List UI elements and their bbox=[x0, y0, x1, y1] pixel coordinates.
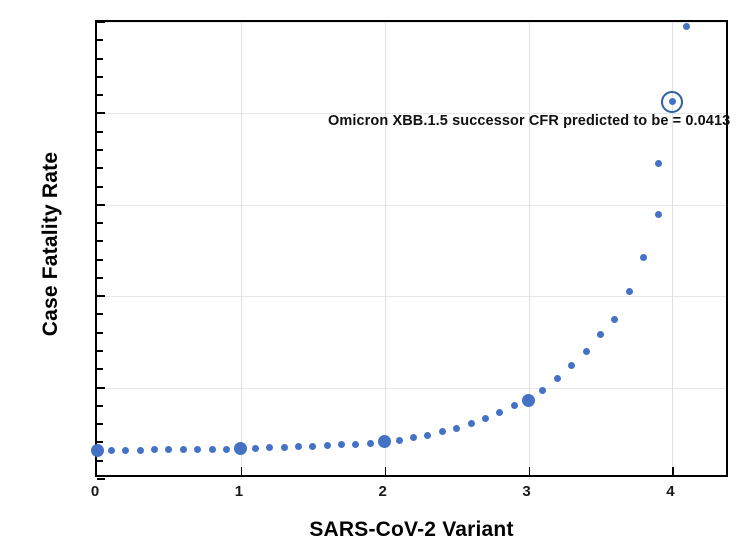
chart-root: Case Fatality Rate 0.0000.0100.0200.0300… bbox=[0, 0, 750, 555]
y-tick-minor bbox=[97, 259, 103, 261]
y-tick-minor bbox=[97, 240, 103, 242]
data-point bbox=[522, 394, 535, 407]
gridline-horizontal-0.030 bbox=[97, 205, 726, 206]
gridline-vertical-4 bbox=[672, 22, 673, 475]
data-point bbox=[338, 441, 345, 448]
data-point bbox=[324, 442, 331, 449]
data-point bbox=[378, 435, 391, 448]
y-tick-minor bbox=[97, 460, 103, 462]
data-point bbox=[108, 447, 115, 454]
data-point bbox=[151, 446, 158, 453]
gridline-vertical-1 bbox=[241, 22, 242, 475]
y-tick-minor bbox=[97, 350, 103, 352]
data-point bbox=[583, 348, 590, 355]
gridline-horizontal-0.020 bbox=[97, 296, 726, 297]
data-point bbox=[252, 445, 259, 452]
data-point bbox=[281, 444, 288, 451]
data-point bbox=[209, 446, 216, 453]
data-point bbox=[482, 415, 489, 422]
y-tick-major-0.000 bbox=[97, 478, 105, 480]
predicted-cfr-marker-dot bbox=[669, 98, 676, 105]
data-point bbox=[91, 444, 104, 457]
y-tick-minor bbox=[97, 277, 103, 279]
data-point bbox=[266, 444, 273, 451]
data-point bbox=[295, 443, 302, 450]
y-tick-minor bbox=[97, 332, 103, 334]
y-tick-minor bbox=[97, 313, 103, 315]
data-point bbox=[234, 442, 247, 455]
x-tick-label-4: 4 bbox=[650, 483, 690, 500]
data-point bbox=[655, 211, 662, 218]
y-tick-minor bbox=[97, 368, 103, 370]
y-tick-minor bbox=[97, 405, 103, 407]
y-tick-minor bbox=[97, 186, 103, 188]
y-tick-minor bbox=[97, 167, 103, 169]
y-tick-minor bbox=[97, 222, 103, 224]
data-point bbox=[597, 331, 604, 338]
gridline-horizontal-0.050 bbox=[97, 22, 726, 23]
data-point bbox=[165, 446, 172, 453]
y-tick-major-0.010 bbox=[97, 387, 105, 389]
data-point bbox=[396, 437, 403, 444]
y-tick-minor bbox=[97, 131, 103, 133]
predicted-cfr-marker bbox=[661, 91, 683, 113]
data-point bbox=[309, 443, 316, 450]
y-tick-minor bbox=[97, 58, 103, 60]
x-tick-label-3: 3 bbox=[507, 483, 547, 500]
y-tick-major-0.040 bbox=[97, 112, 105, 114]
y-tick-minor bbox=[97, 441, 103, 443]
data-point bbox=[439, 428, 446, 435]
y-tick-major-0.020 bbox=[97, 295, 105, 297]
x-tick-label-1: 1 bbox=[219, 483, 259, 500]
data-point bbox=[568, 362, 575, 369]
prediction-annotation-label: Omicron XBB.1.5 successor CFR predicted … bbox=[328, 113, 730, 129]
plot-area: Omicron XBB.1.5 successor CFR predicted … bbox=[95, 20, 728, 477]
y-tick-minor bbox=[97, 149, 103, 151]
data-point bbox=[194, 446, 201, 453]
y-tick-major-0.050 bbox=[97, 21, 105, 23]
data-point bbox=[539, 387, 546, 394]
data-point bbox=[554, 375, 561, 382]
y-tick-minor bbox=[97, 423, 103, 425]
data-point bbox=[122, 447, 129, 454]
gridline-vertical-2 bbox=[385, 22, 386, 475]
x-tick-label-0: 0 bbox=[75, 483, 115, 500]
x-tick-major-1 bbox=[241, 467, 243, 475]
data-point bbox=[367, 440, 374, 447]
x-tick-label-2: 2 bbox=[363, 483, 403, 500]
data-point bbox=[611, 316, 618, 323]
data-point bbox=[626, 288, 633, 295]
x-tick-major-4 bbox=[672, 467, 674, 475]
data-point bbox=[453, 425, 460, 432]
y-tick-minor bbox=[97, 39, 103, 41]
gridline-vertical-3 bbox=[529, 22, 530, 475]
data-point bbox=[410, 434, 417, 441]
data-point bbox=[511, 402, 518, 409]
data-point bbox=[352, 441, 359, 448]
data-point bbox=[655, 160, 662, 167]
data-point bbox=[683, 23, 690, 30]
y-tick-minor bbox=[97, 94, 103, 96]
data-point bbox=[180, 446, 187, 453]
data-point bbox=[424, 432, 431, 439]
x-tick-major-2 bbox=[385, 467, 387, 475]
data-point bbox=[468, 420, 475, 427]
gridline-horizontal-0.010 bbox=[97, 388, 726, 389]
data-point bbox=[137, 447, 144, 454]
y-tick-minor bbox=[97, 76, 103, 78]
y-axis-title: Case Fatality Rate bbox=[39, 99, 63, 389]
x-axis-title: SARS-CoV-2 Variant bbox=[95, 518, 728, 542]
data-point bbox=[496, 409, 503, 416]
data-point bbox=[640, 254, 647, 261]
y-tick-major-0.030 bbox=[97, 204, 105, 206]
data-point bbox=[223, 446, 230, 453]
x-tick-major-3 bbox=[529, 467, 531, 475]
